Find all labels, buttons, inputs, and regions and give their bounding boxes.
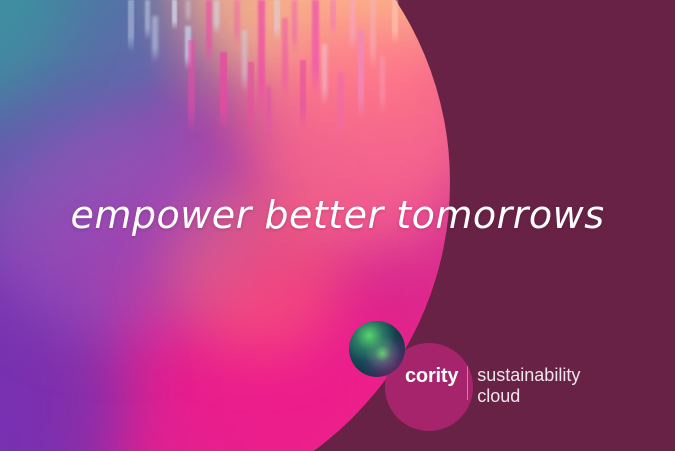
globe-icon bbox=[349, 321, 405, 377]
sphere-glow-coral bbox=[184, 0, 450, 89]
sphere-glow-teal bbox=[0, 0, 64, 116]
brand-slide: empower better tomorrows cority sustaina… bbox=[0, 0, 675, 451]
tagline: empower better tomorrows bbox=[0, 196, 675, 234]
logo-lockup[interactable]: cority sustainability cloud bbox=[349, 321, 649, 431]
logo-text: cority sustainability cloud bbox=[405, 365, 580, 407]
logo-divider bbox=[467, 366, 468, 400]
brand-name: cority bbox=[405, 365, 458, 387]
product-name: sustainability cloud bbox=[477, 365, 580, 407]
sphere-glow-purple bbox=[0, 262, 131, 451]
